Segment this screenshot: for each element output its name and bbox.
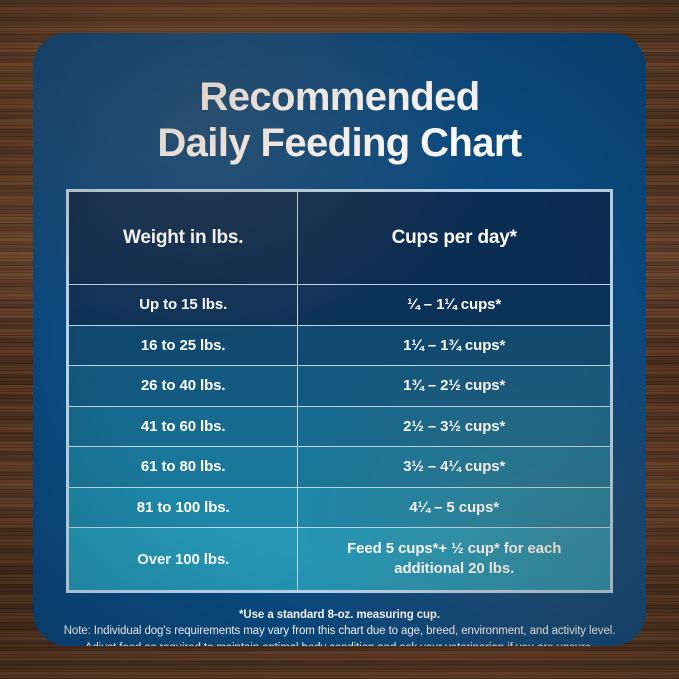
table-header: Weight in lbs. Cups per day* [69, 192, 611, 285]
wood-background: Recommended Daily Feeding Chart Weight i… [0, 0, 679, 679]
cell-weight: 61 to 80 lbs. [69, 447, 298, 488]
cell-cups: 2½ – 3½ cups* [298, 406, 611, 447]
table-row: Up to 15 lbs. ¼ – 1¼ cups* [69, 285, 611, 326]
feeding-chart-card: Recommended Daily Feeding Chart Weight i… [33, 33, 646, 646]
feeding-table: Weight in lbs. Cups per day* Up to 15 lb… [68, 191, 611, 591]
footnote-note: Note: Individual dog's requirements may … [51, 623, 628, 640]
table-body: Up to 15 lbs. ¼ – 1¼ cups* 16 to 25 lbs.… [69, 285, 611, 591]
cell-cups-line-2: additional 20 lbs. [298, 559, 610, 579]
cell-weight: 16 to 25 lbs. [69, 325, 298, 366]
table-row: 41 to 60 lbs. 2½ – 3½ cups* [69, 406, 611, 447]
cell-cups-line-1: Feed 5 cups*+ ½ cup* for each [298, 539, 610, 559]
column-header-cups: Cups per day* [298, 192, 611, 285]
table-row: 16 to 25 lbs. 1¼ – 1¾ cups* [69, 325, 611, 366]
table-row: Over 100 lbs. Feed 5 cups*+ ½ cup* for e… [69, 528, 611, 591]
cell-cups: 1¾ – 2½ cups* [298, 366, 611, 407]
cell-cups: 1¼ – 1¾ cups* [298, 325, 611, 366]
cell-cups: Feed 5 cups*+ ½ cup* for each additional… [298, 528, 611, 591]
cell-weight: 81 to 100 lbs. [69, 487, 298, 528]
cell-weight: Up to 15 lbs. [69, 285, 298, 326]
cell-cups: ¼ – 1¼ cups* [298, 285, 611, 326]
title-line-2: Daily Feeding Chart [33, 120, 646, 166]
column-header-weight: Weight in lbs. [69, 192, 298, 285]
page-title: Recommended Daily Feeding Chart [33, 33, 646, 166]
table-row: 81 to 100 lbs. 4¼ – 5 cups* [69, 487, 611, 528]
footnotes: *Use a standard 8-oz. measuring cup. Not… [51, 607, 628, 646]
table-row: 26 to 40 lbs. 1¾ – 2½ cups* [69, 366, 611, 407]
cell-weight: 26 to 40 lbs. [69, 366, 298, 407]
feeding-table-container: Weight in lbs. Cups per day* Up to 15 lb… [66, 189, 613, 593]
table-row: 61 to 80 lbs. 3½ – 4¼ cups* [69, 447, 611, 488]
table-header-row: Weight in lbs. Cups per day* [69, 192, 611, 285]
footnote-adjust: Adjust food as required to maintain opti… [51, 640, 628, 646]
footnote-measuring-cup: *Use a standard 8-oz. measuring cup. [51, 607, 628, 623]
cell-cups: 4¼ – 5 cups* [298, 487, 611, 528]
cell-weight: Over 100 lbs. [69, 528, 298, 591]
cell-cups: 3½ – 4¼ cups* [298, 447, 611, 488]
title-line-1: Recommended [33, 74, 646, 120]
cell-weight: 41 to 60 lbs. [69, 406, 298, 447]
